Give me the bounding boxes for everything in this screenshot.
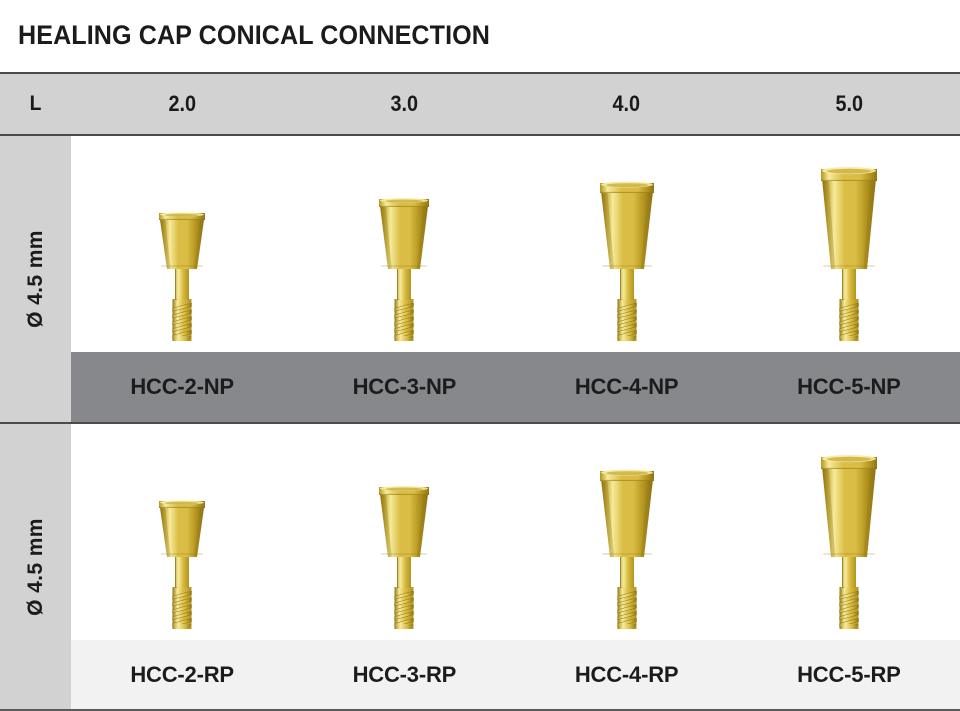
section-content: HCC-2-RPHCC-3-RPHCC-4-RPHCC-5-RP bbox=[71, 424, 960, 709]
page-title: HEALING CAP CONICAL CONNECTION bbox=[18, 20, 490, 51]
product-table-sheet: HEALING CAP CONICAL CONNECTION L 2.03.04… bbox=[0, 0, 960, 711]
product-image-cell[interactable] bbox=[516, 424, 738, 640]
column-header-value: 5.0 bbox=[835, 91, 863, 117]
header-corner-label: L bbox=[3, 74, 68, 134]
healing-cap-image bbox=[817, 167, 881, 348]
section-content: HCC-2-NPHCC-3-NPHCC-4-NPHCC-5-NP bbox=[71, 136, 960, 422]
column-header-length: 2.0 bbox=[71, 74, 293, 134]
product-image-cell[interactable] bbox=[293, 136, 515, 352]
column-header-length: 4.0 bbox=[516, 74, 738, 134]
row-header-label: Ø 4.5 mm bbox=[24, 518, 48, 616]
row-header-diameter: Ø 4.5 mm bbox=[0, 136, 71, 422]
column-header-value: 3.0 bbox=[391, 91, 419, 117]
healing-cap-icon bbox=[817, 167, 881, 343]
healing-cap-icon bbox=[596, 469, 658, 631]
row-header-label: Ø 4.5 mm bbox=[24, 230, 48, 328]
product-image-row bbox=[71, 136, 960, 352]
product-code-cell[interactable]: HCC-5-NP bbox=[738, 352, 960, 422]
healing-cap-icon bbox=[155, 211, 209, 343]
title-bar: HEALING CAP CONICAL CONNECTION bbox=[0, 0, 960, 72]
healing-cap-image bbox=[596, 181, 658, 348]
product-image-cell[interactable] bbox=[71, 424, 293, 640]
product-code-row: HCC-2-NPHCC-3-NPHCC-4-NPHCC-5-NP bbox=[71, 352, 960, 422]
product-image-cell[interactable] bbox=[516, 136, 738, 352]
healing-cap-icon bbox=[375, 485, 433, 631]
column-header-value: 2.0 bbox=[168, 91, 196, 117]
product-code-cell[interactable]: HCC-5-RP bbox=[738, 640, 960, 709]
healing-cap-icon bbox=[596, 181, 658, 343]
healing-cap-icon bbox=[817, 455, 881, 631]
healing-cap-image bbox=[155, 499, 209, 636]
product-code-cell[interactable]: HCC-3-RP bbox=[293, 640, 515, 709]
product-code-cell[interactable]: HCC-4-RP bbox=[516, 640, 738, 709]
product-image-cell[interactable] bbox=[293, 424, 515, 640]
column-header-length: 5.0 bbox=[738, 74, 960, 134]
product-code-cell[interactable]: HCC-2-NP bbox=[71, 352, 293, 422]
healing-cap-icon bbox=[155, 499, 209, 631]
product-image-cell[interactable] bbox=[738, 136, 960, 352]
product-image-row bbox=[71, 424, 960, 640]
healing-cap-image bbox=[375, 197, 433, 348]
healing-cap-image bbox=[155, 211, 209, 348]
product-image-cell[interactable] bbox=[71, 136, 293, 352]
healing-cap-image bbox=[817, 455, 881, 636]
product-code-row: HCC-2-RPHCC-3-RPHCC-4-RPHCC-5-RP bbox=[71, 640, 960, 709]
product-code-cell[interactable]: HCC-3-NP bbox=[293, 352, 515, 422]
table-section-np: Ø 4.5 mm bbox=[0, 136, 960, 424]
table-section-rp: Ø 4.5 mm bbox=[0, 424, 960, 711]
table-header-row: L 2.03.04.05.0 bbox=[0, 72, 960, 136]
product-code-cell[interactable]: HCC-4-NP bbox=[516, 352, 738, 422]
row-header-diameter: Ø 4.5 mm bbox=[0, 424, 71, 709]
column-header-length: 3.0 bbox=[293, 74, 515, 134]
healing-cap-icon bbox=[375, 197, 433, 343]
product-image-cell[interactable] bbox=[738, 424, 960, 640]
healing-cap-image bbox=[596, 469, 658, 636]
column-header-value: 4.0 bbox=[613, 91, 641, 117]
healing-cap-image bbox=[375, 485, 433, 636]
product-code-cell[interactable]: HCC-2-RP bbox=[71, 640, 293, 709]
